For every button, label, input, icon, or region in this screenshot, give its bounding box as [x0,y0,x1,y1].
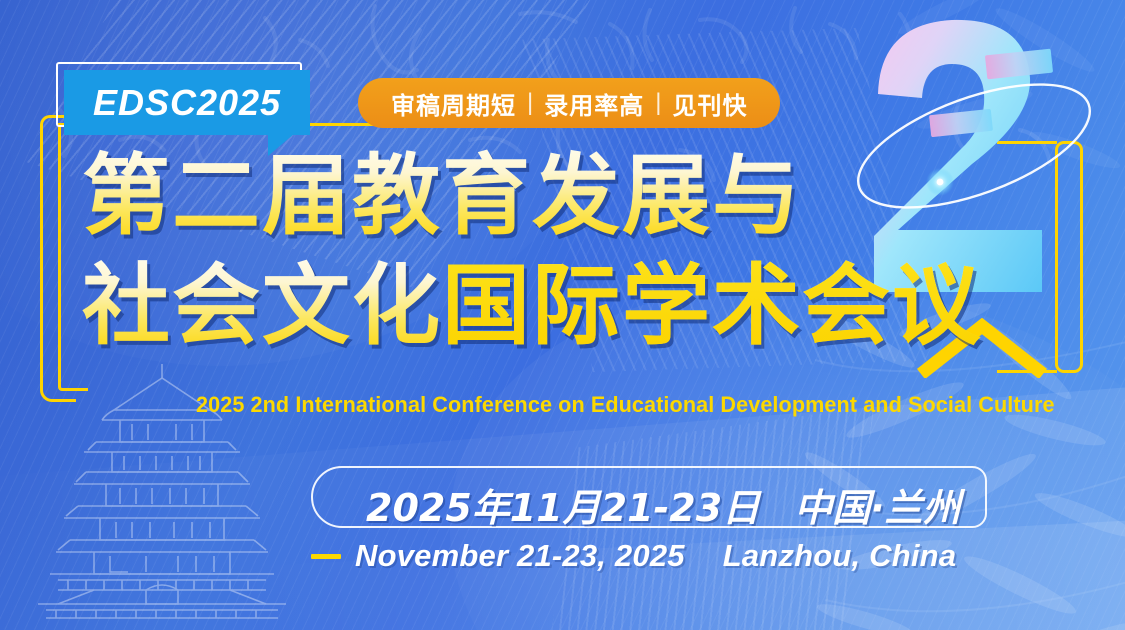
title-line-2-part1: 社会文化 [82,254,442,357]
highlights-pill: 审稿周期短 | 录用率高 | 见刊快 [358,78,780,128]
title-line-1: 第二届教育发展与 [82,142,1062,250]
title-line-2-part2: 国际学术会议 [442,254,982,357]
date-english: November 21-23, 2025 [355,538,685,573]
city-chinese: 中国·兰州 [794,486,960,530]
date-location-english-row: November 21-23, 2025Lanzhou, China [311,538,956,574]
date-location-english: November 21-23, 2025Lanzhou, China [355,538,956,574]
dash-icon [311,554,341,559]
title-block: 第二届教育发展与 社会文化国际学术会议 [82,142,1062,360]
date-location-chinese: 2025年11月21-23日中国·兰州 [366,477,961,532]
conference-code-badge[interactable]: EDSC2025 [64,70,310,135]
conference-code-text: EDSC2025 [93,82,281,124]
subtitle-english: 2025 2nd International Conference on Edu… [196,392,1055,418]
highlight-item-3: 见刊快 [661,86,758,121]
city-english: Lanzhou, China [723,538,957,573]
highlight-item-2: 录用率高 [533,86,655,121]
conference-banner: EDSC2025 审稿周期短 | 录用率高 | 见刊快 第二届教育发展与 社会文… [0,0,1125,630]
highlight-item-1: 审稿周期短 [380,86,527,121]
date-chinese: 2025年11月21-23日 [366,486,760,530]
title-line-2: 社会文化国际学术会议 [82,252,1062,360]
